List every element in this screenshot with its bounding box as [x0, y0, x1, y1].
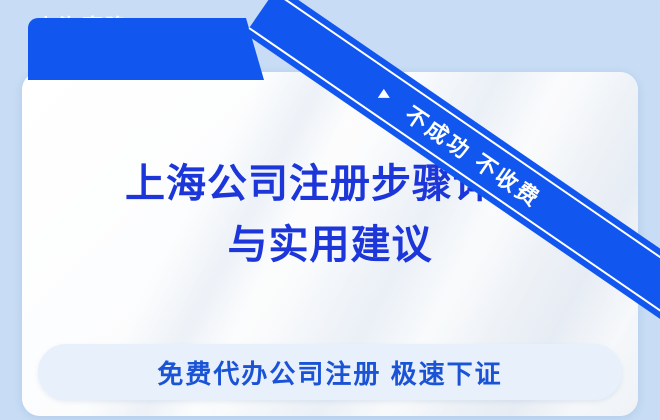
brand-tab	[28, 18, 264, 80]
footer-pill-label: 免费代办公司注册 极速下证	[157, 354, 502, 391]
content-card: 上海公司注册步骤详解 与实用建议 免费代办公司注册 极速下证	[22, 72, 638, 416]
poster-canvas: 上海壹隆 上海公司注册步骤详解 与实用建议 免费代办公司注册 极速下证 不成功 …	[0, 0, 660, 420]
triangle-up-icon	[378, 89, 390, 98]
footer-pill[interactable]: 免费代办公司注册 极速下证	[38, 344, 622, 400]
